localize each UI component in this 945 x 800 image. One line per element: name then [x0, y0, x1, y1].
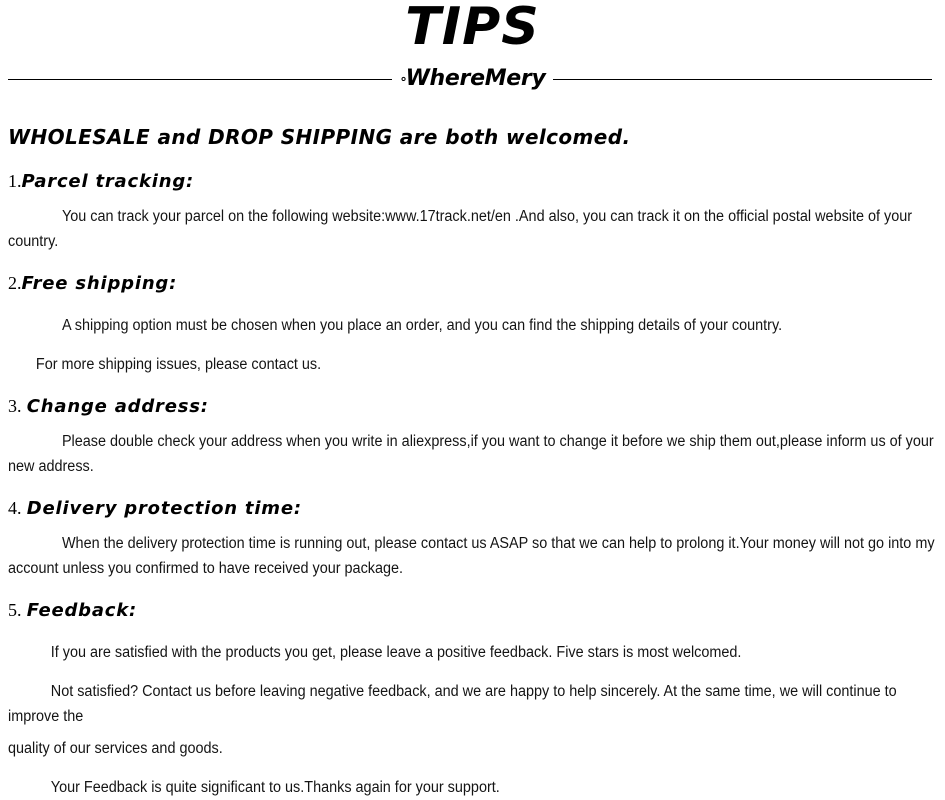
section-title: Parcel tracking: [22, 171, 195, 192]
section-parcel-tracking: 1.Parcel tracking: You can track your pa… [8, 166, 937, 254]
wholesale-dropshipping-notice: WHOLESALE and DROP SHIPPING are both wel… [8, 122, 937, 152]
section-number: 1. [8, 171, 22, 191]
document-body: WHOLESALE and DROP SHIPPING are both wel… [0, 122, 945, 800]
section-title: Feedback: [27, 600, 137, 621]
section-paragraph: A shipping option must be chosen when yo… [8, 313, 937, 338]
section-paragraph: quality of our services and goods. [8, 736, 937, 761]
section-number: 4. [8, 498, 22, 518]
section-change-address: 3. Change address: Please double check y… [8, 391, 937, 479]
section-paragraph: For more shipping issues, please contact… [8, 352, 937, 377]
section-paragraph: When the delivery protection time is run… [8, 531, 937, 581]
section-paragraph: Not satisfied? Contact us before leaving… [8, 679, 937, 729]
page-title: TIPS [0, 0, 945, 58]
brand-divider: ∘WhereMery [0, 64, 945, 94]
section-heading: 1.Parcel tracking: [8, 166, 937, 197]
section-heading: 4. Delivery protection time: [8, 493, 937, 524]
section-paragraph: If you are satisfied with the products y… [8, 640, 937, 665]
section-paragraph: Your Feedback is quite significant to us… [8, 775, 937, 800]
section-free-shipping: 2.Free shipping: A shipping option must … [8, 268, 937, 377]
brand-name: WhereMery [406, 64, 546, 94]
section-title: Delivery protection time: [27, 498, 302, 519]
section-heading: 5. Feedback: [8, 595, 937, 626]
section-heading: 3. Change address: [8, 391, 937, 422]
section-title: Free shipping: [22, 273, 178, 294]
document-header: TIPS ∘WhereMery [0, 0, 945, 100]
section-title: Change address: [27, 396, 209, 417]
section-heading: 2.Free shipping: [8, 268, 937, 299]
section-number: 3. [8, 396, 22, 416]
section-delivery-protection-time: 4. Delivery protection time: When the de… [8, 493, 937, 581]
section-number: 5. [8, 600, 22, 620]
section-paragraph: Please double check your address when yo… [8, 429, 937, 479]
brand-logo: ∘WhereMery [392, 64, 552, 96]
section-feedback: 5. Feedback: If you are satisfied with t… [8, 595, 937, 800]
section-paragraph: You can track your parcel on the followi… [8, 204, 937, 254]
section-number: 2. [8, 273, 22, 293]
